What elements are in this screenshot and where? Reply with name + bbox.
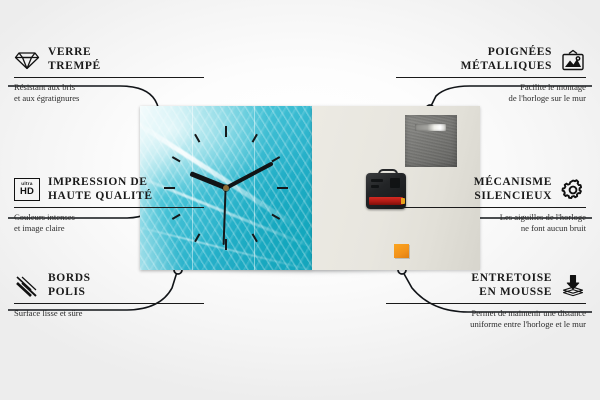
- gear-icon: [560, 178, 586, 202]
- feature-impression-haute-qualite[interactable]: ultra HD IMPRESSION DE HAUTE QUALITÉ Cou…: [14, 176, 204, 233]
- feature-description: Permet de maintenir une distance uniform…: [386, 308, 586, 329]
- mechanism-detail-1: [371, 179, 383, 182]
- feature-title: BORDS POLIS: [48, 272, 91, 299]
- mechanism-detail-2: [371, 185, 379, 188]
- clock-tick: [225, 126, 227, 188]
- feature-poignees-metalliques[interactable]: POIGNÉES MÉTALLIQUES Facilite le montage…: [396, 46, 586, 103]
- infographic-canvas: VERRE TREMPÉ Résistant aux bris et aux é…: [0, 0, 600, 400]
- feature-rule: [14, 207, 204, 208]
- feature-head: VERRE TREMPÉ: [14, 46, 204, 73]
- hanger-slot: [415, 124, 446, 131]
- spacer-arrow-icon: [560, 274, 586, 298]
- feature-description: Les aiguilles de l'horloge ne font aucun…: [396, 212, 586, 233]
- feature-head: POIGNÉES MÉTALLIQUES: [396, 46, 586, 73]
- clock-center-cap: [223, 185, 229, 191]
- feature-description: Facilite le montage de l'horloge sur le …: [396, 82, 586, 103]
- polished-edges-icon: [14, 274, 40, 298]
- picture-hanger-icon: [560, 48, 586, 72]
- feature-title: ENTRETOISE EN MOUSSE: [471, 272, 552, 299]
- feature-entretoise-en-mousse[interactable]: ENTRETOISE EN MOUSSE Permet de maintenir…: [386, 272, 586, 329]
- feature-rule: [396, 77, 586, 78]
- feature-rule: [386, 303, 586, 304]
- feature-head: ENTRETOISE EN MOUSSE: [386, 272, 586, 299]
- feature-rule: [14, 303, 204, 304]
- feature-head: ultra HD IMPRESSION DE HAUTE QUALITÉ: [14, 176, 204, 203]
- feature-rule: [396, 207, 586, 208]
- ultra-hd-icon: ultra HD: [14, 178, 40, 202]
- foam-spacer: [394, 244, 409, 258]
- ultra-hd-icon-main-text: HD: [20, 187, 34, 197]
- clock-tick: [226, 187, 288, 189]
- feature-description: Résistant aux bris et aux égratignures: [14, 82, 204, 103]
- diamond-icon: [14, 48, 40, 72]
- feature-head: BORDS POLIS: [14, 272, 204, 299]
- feature-head: MÉCANISME SILENCIEUX: [396, 176, 586, 203]
- feature-mecanisme-silencieux[interactable]: MÉCANISME SILENCIEUX Les aiguilles de l'…: [396, 176, 586, 233]
- feature-description: Surface lisse et sûre: [14, 308, 204, 319]
- feature-title: MÉCANISME SILENCIEUX: [474, 176, 552, 203]
- feature-title: POIGNÉES MÉTALLIQUES: [461, 46, 552, 73]
- feature-title: VERRE TREMPÉ: [48, 46, 101, 73]
- feature-title: IMPRESSION DE HAUTE QUALITÉ: [48, 176, 153, 203]
- metal-hanger-plate: [405, 115, 457, 167]
- feature-rule: [14, 77, 204, 78]
- feature-description: Couleurs intenses et image claire: [14, 212, 204, 233]
- feature-bords-polis[interactable]: BORDS POLIS Surface lisse et sûre: [14, 272, 204, 319]
- feature-verre-trempe[interactable]: VERRE TREMPÉ Résistant aux bris et aux é…: [14, 46, 204, 103]
